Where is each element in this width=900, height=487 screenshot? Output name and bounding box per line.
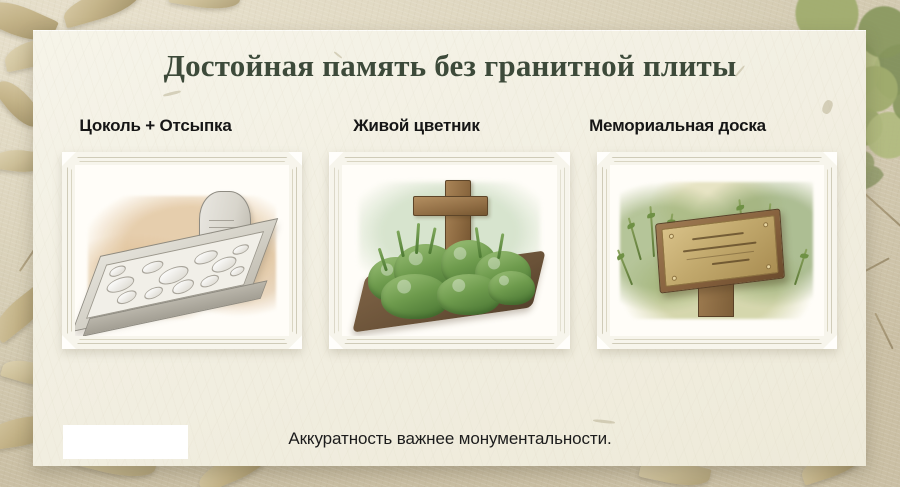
wooden-cross-flowerbed-illustration — [342, 165, 556, 336]
card-plinth-gravel[interactable] — [62, 152, 302, 349]
grave-plinth-gravel-illustration — [75, 165, 289, 336]
page-title: Достойная память без гранитной плиты — [0, 48, 900, 84]
paper-fleck — [821, 99, 835, 115]
column-header-flowerbed: Живой цветник — [301, 116, 532, 136]
slide-stage: Достойная память без гранитной плиты Цок… — [0, 0, 900, 487]
card-flowerbed[interactable] — [329, 152, 569, 349]
paper-fleck — [593, 419, 615, 424]
column-header-plaque: Мемориальная доска — [562, 116, 793, 136]
illustration-cards — [62, 152, 837, 349]
engraved-plate — [661, 215, 779, 287]
card-memorial-plaque[interactable] — [597, 152, 837, 349]
column-header-plinth: Цоколь + Отсыпка — [40, 116, 271, 136]
green-plant — [488, 271, 535, 305]
paper-fleck — [163, 90, 181, 97]
column-headers: Цоколь + Отсыпка Живой цветник Мемориаль… — [40, 116, 793, 136]
bronze-memorial-plaque-illustration — [610, 165, 824, 336]
wooden-cross-arm — [413, 196, 488, 216]
slide-caption: Аккуратность важнее монументальности. — [0, 429, 900, 449]
